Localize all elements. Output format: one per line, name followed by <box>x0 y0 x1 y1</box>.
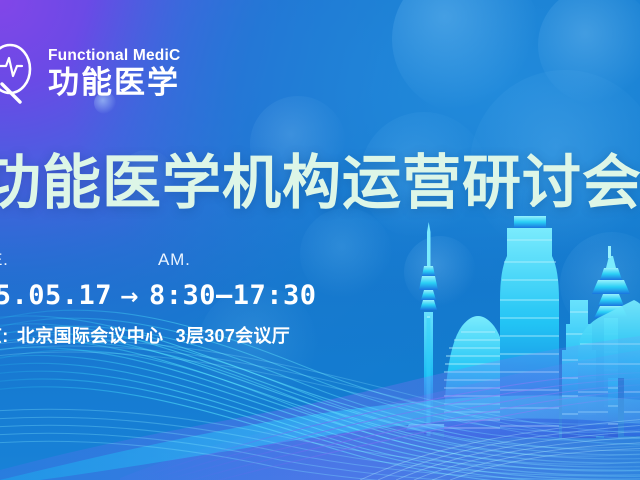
am-label: AM. <box>158 250 191 270</box>
event-title: 功能医学机构运营研讨会 <box>0 152 640 216</box>
event-date: 25.05.17 <box>0 280 112 311</box>
functional-medic-q-mark-icon <box>0 42 42 104</box>
meta-label-row: ME. AM. <box>0 250 191 270</box>
logo-english-text: Functional MediC <box>48 48 180 64</box>
arrow-right-icon: → <box>120 285 139 310</box>
event-banner: Functional MediC 功能医学 功能医学机构运营研讨会 ME. AM… <box>0 0 640 480</box>
meta-value-row: 25.05.17 → 8:30—17:30 <box>0 280 317 311</box>
logo-chinese-text: 功能医学 <box>48 67 180 98</box>
brand-logo: Functional MediC 功能医学 <box>0 42 180 104</box>
venue-label: 京: <box>0 326 9 346</box>
event-time-range: 8:30—17:30 <box>149 280 317 311</box>
time-label: ME. <box>0 250 158 270</box>
venue-hall: 3层307会议厅 <box>176 326 290 346</box>
event-venue: 京: 北京国际会议中心 3层307会议厅 <box>0 322 290 348</box>
venue-place: 北京国际会议中心 <box>17 326 163 346</box>
